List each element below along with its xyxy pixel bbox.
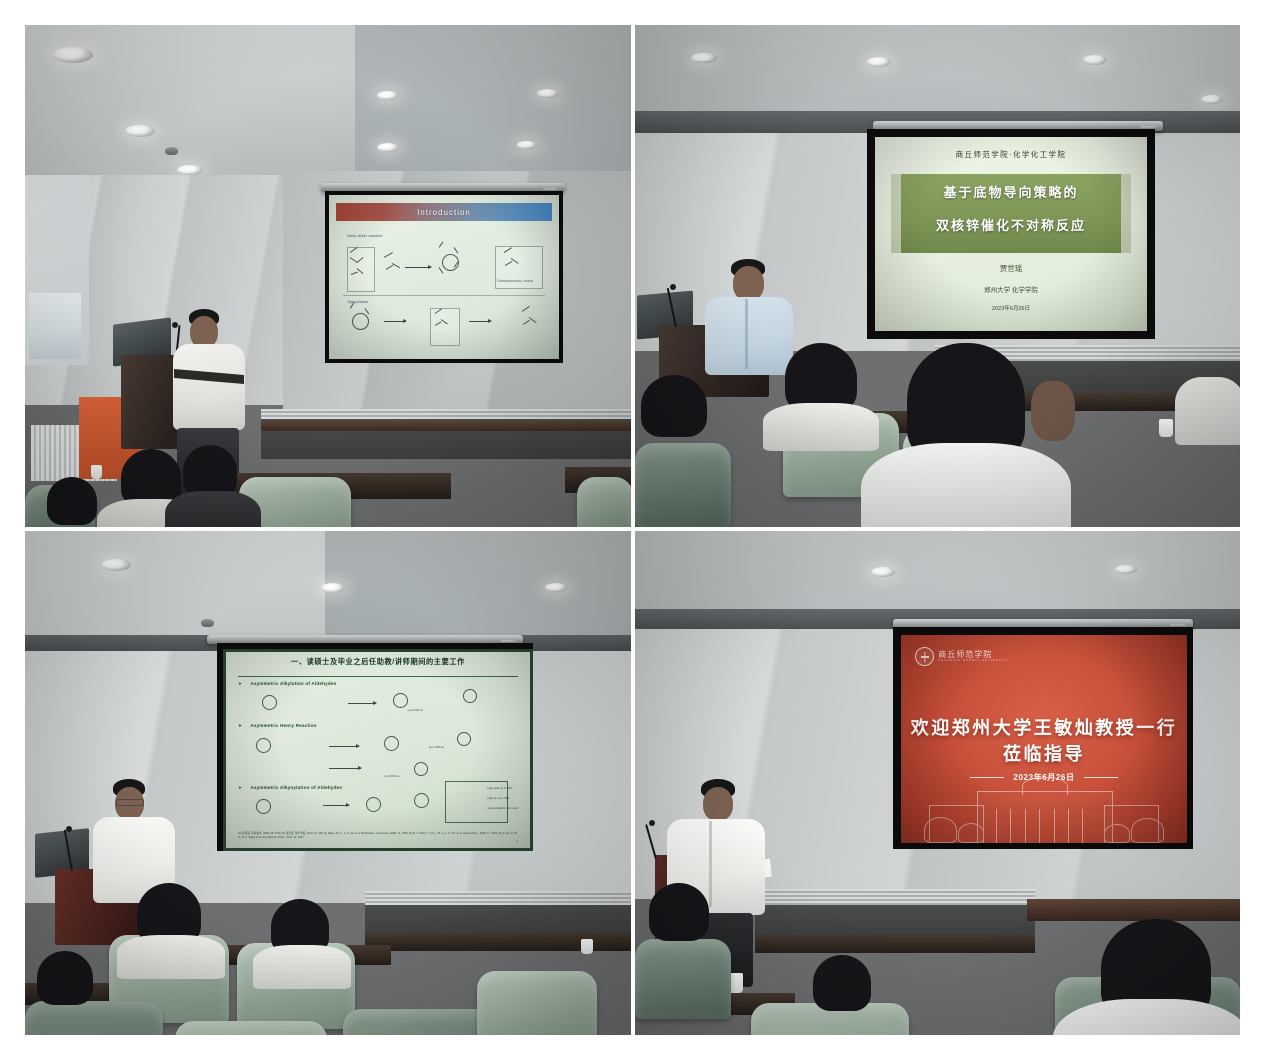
eyeglasses-icon [116,799,144,806]
reaction-condition: High yield, up to 98% [487,787,523,791]
section-label-diels-alder: Diels-Alder reaction [347,234,382,238]
ceiling-light-icon [377,143,399,152]
audience-body [253,945,351,989]
bullet-icon: ➤ [238,723,242,729]
molecule-ring-icon [457,732,471,746]
photo-panel-top-right: screen 商丘师范学院·化学化工学院 基于底物导向策略的 双核锌催化不对称反… [635,25,1240,527]
ceiling-light-icon [517,141,537,149]
photo-collage: screen Introduction Diels-Alder reaction [25,25,1240,1035]
reaction-condition: up to 97% ee [393,709,437,713]
audience-head [37,951,93,1005]
audience-body [165,491,261,527]
ceiling-light-icon [53,47,93,63]
molecule-ring-icon [393,693,408,708]
ceiling-light-icon [1083,55,1107,65]
presenter-shirt [705,297,793,375]
audience-head [649,883,709,941]
slide-speaker-name: 贾世瑶 [875,263,1147,274]
audience-body [1175,377,1240,445]
slide-title-green: 商丘师范学院·化学化工学院 基于底物导向策略的 双核锌催化不对称反应 贾世瑶 郑… [875,137,1147,331]
smoke-detector-icon [201,619,214,627]
audience-body [763,403,879,451]
audience-body [117,935,225,979]
molecule-ring-icon [463,689,477,703]
molecule-ring-icon [366,797,381,812]
audience-head [813,955,871,1011]
slide-page-number: 2 [516,840,517,843]
slide-title-line1: 基于底物导向策略的 [875,182,1147,201]
slide-welcome-red: 商丘师范学院 SHANGQIU NORMAL UNIVERSITY 欢迎郑州大学… [901,635,1187,843]
ceiling-light-icon [125,125,155,137]
audience-head [183,445,237,497]
ceiling-light-icon [1115,565,1137,574]
ceiling-light-icon [101,559,131,571]
audience-body [861,443,1071,527]
photo-panel-bottom-left: screen 一、读硕士及毕业之后任助教/讲师期间的主要工作 ➤ Asymmet… [25,531,631,1035]
reaction-condition: Good scalability >10 mmol [487,807,523,811]
paper-cup [91,465,102,479]
slide-title: 一、读硕士及毕业之后任助教/讲师期间的主要工作 [226,657,530,667]
reaction-arrow-icon [469,321,491,322]
reaction-arrow-icon [329,768,361,769]
university-logo: 商丘师范学院 SHANGQIU NORMAL UNIVERSITY [915,647,1008,666]
paper-cup [1159,419,1173,437]
reaction-arrow-icon [323,805,349,806]
ceiling-light-icon [177,165,203,175]
reaction-arrow-icon [329,746,359,747]
boxed-compound-label: Cannabinoids-Lewis [497,279,533,283]
molecule-ring-icon [352,313,369,330]
photo-panel-top-left: screen Introduction Diels-Alder reaction [25,25,631,527]
reaction-arrow-icon [405,267,431,268]
molecule-ring-icon [262,695,277,710]
slide-references: (a) 贾世瑶, 有机化学, 2008, 28, 1732; (b) 贾世瑶, … [238,832,518,840]
ceiling-light-icon [691,53,717,63]
bullet-icon: ➤ [238,785,242,791]
molecule-ring-icon [384,736,399,751]
reaction-arrow-icon [384,321,406,322]
section-1-label: Asymmetric Alkylation of Aldehydes [250,681,336,686]
molecule-ring-icon [414,762,428,776]
ceiling-light-icon [867,57,891,67]
bullet-icon: ➤ [238,681,242,687]
section-3-label: Asymmetric Alkynylation of Aldehydes [250,785,342,790]
ceiling-light-icon [545,583,567,592]
slide-header-bar: Introduction [336,203,552,221]
university-emblem-icon [915,647,934,666]
ceiling-light-icon [537,89,559,98]
reaction-condition: High ee, up to 98% [487,797,523,801]
slide-welcome-text: 欢迎郑州大学王敏灿教授一行莅临指导 [901,714,1187,766]
slide-institution-line: 商丘师范学院·化学化工学院 [875,149,1147,160]
ceiling-light-icon [321,583,345,593]
section-label-speculation: Speculation [347,300,368,304]
presenter-shirt [173,344,245,430]
slide-affiliation: 郑州大学 化学学院 [875,284,1147,294]
reaction-condition: up to 99% ee [414,746,458,750]
reaction-arrow-icon [348,703,376,704]
ceiling-light-icon [1201,95,1223,104]
audience-arm [1031,381,1075,441]
slide-title-line2: 双核锌催化不对称反应 [875,215,1147,234]
slide-work-summary: 一、读硕士及毕业之后任助教/讲师期间的主要工作 ➤ Asymmetric Alk… [223,649,533,851]
molecule-ring-icon [414,793,429,808]
logo-subtext: SHANGQIU NORMAL UNIVERSITY [938,660,1008,663]
molecule-ring-icon [256,799,271,814]
slide-date: 2023年6月26日 [875,304,1147,312]
audience-head [47,477,97,525]
building-illustration [924,772,1164,843]
ceiling-light-icon [377,91,399,100]
audience-head [641,375,707,437]
section-2-label: Asymmetric Henry Reaction [250,723,316,728]
paper-cup [581,939,593,954]
ceiling-light-icon [871,567,895,577]
slide-header-title: Introduction [417,208,471,217]
photo-panel-bottom-right: screen 商丘师范学院 SHANGQIU NORMAL UNIVERSITY… [635,531,1240,1035]
slide-introduction: Introduction Diels-Alder reaction [329,195,559,359]
reaction-condition: up to 52% ee [372,775,412,779]
molecule-ring-icon [256,738,271,753]
smoke-detector-icon [165,147,178,155]
